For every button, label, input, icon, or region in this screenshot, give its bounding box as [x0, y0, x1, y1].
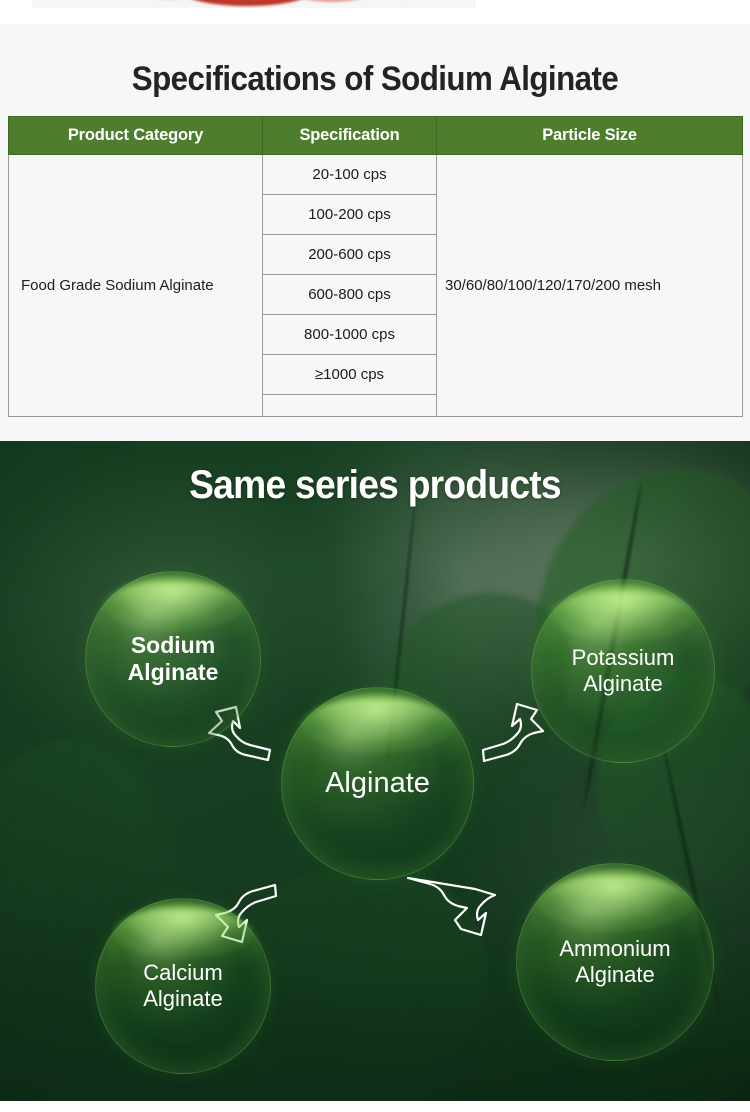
column-header-product-category: Product Category — [9, 117, 263, 155]
bubble-ammonium-alginate[interactable]: Ammonium Alginate — [516, 863, 714, 1061]
cell-spacer — [263, 395, 437, 417]
cell-specification: 600-800 cps — [263, 275, 437, 315]
bubble-label-line1: Sodium — [128, 632, 219, 659]
bubble-label-line1: Ammonium — [559, 936, 670, 962]
table-header-row: Product Category Specification Particle … — [9, 117, 743, 155]
column-header-particle-size: Particle Size — [437, 117, 743, 155]
cell-specification: 200-600 cps — [263, 235, 437, 275]
bubble-label-line2: Alginate — [572, 671, 675, 697]
same-series-products-section: Same series products Sodium Alginate Pot… — [0, 441, 750, 1101]
bubble-label-line2: Alginate — [128, 659, 219, 686]
bubble-potassium-alginate[interactable]: Potassium Alginate — [531, 579, 715, 763]
series-title: Same series products — [26, 463, 724, 508]
column-header-specification: Specification — [263, 117, 437, 155]
cell-product-category: Food Grade Sodium Alginate — [9, 155, 263, 417]
bubble-label-line2: Alginate — [559, 962, 670, 988]
bubble-calcium-alginate[interactable]: Calcium Alginate — [95, 898, 271, 1074]
cell-specification: 100-200 cps — [263, 195, 437, 235]
table-row: Food Grade Sodium Alginate 20-100 cps 30… — [9, 155, 743, 195]
table-body: Food Grade Sodium Alginate 20-100 cps 30… — [9, 155, 743, 417]
bubble-label-line1: Potassium — [572, 645, 675, 671]
decorative-blob — [294, 0, 370, 2]
cell-specification: ≥1000 cps — [263, 355, 437, 395]
bubble-label-line2: Alginate — [143, 986, 223, 1012]
bubble-sodium-alginate[interactable]: Sodium Alginate — [85, 571, 261, 747]
cell-specification: 20-100 cps — [263, 155, 437, 195]
specifications-table: Product Category Specification Particle … — [8, 116, 743, 417]
fragment-image — [32, 0, 476, 8]
cropped-product-image-fragment — [0, 0, 750, 24]
decorative-blob — [182, 0, 312, 6]
bubble-label-center: Alginate — [325, 766, 430, 800]
specifications-section: Specifications of Sodium Alginate Produc… — [0, 24, 750, 441]
table-header: Product Category Specification Particle … — [9, 117, 743, 155]
product-detail-page: Specifications of Sodium Alginate Produc… — [0, 0, 750, 1112]
cell-particle-size: 30/60/80/100/120/170/200 mesh — [437, 155, 743, 417]
specifications-title: Specifications of Sodium Alginate — [30, 60, 720, 99]
bubble-alginate-center[interactable]: Alginate — [281, 687, 474, 880]
cell-specification: 800-1000 cps — [263, 315, 437, 355]
bubble-label-line1: Calcium — [143, 960, 223, 986]
